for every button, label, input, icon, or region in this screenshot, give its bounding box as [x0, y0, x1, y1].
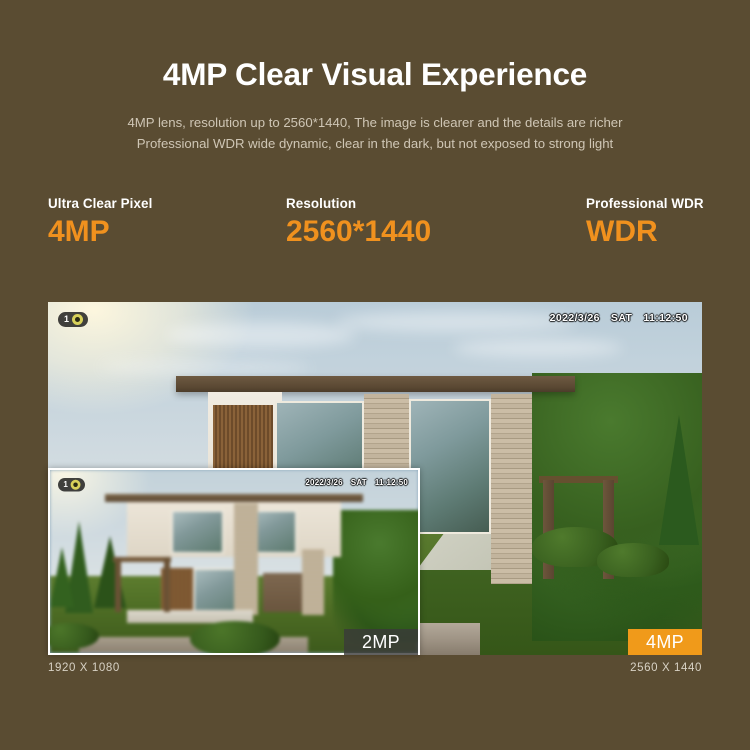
subtitle-block: 4MP lens, resolution up to 2560*1440, Th… — [0, 112, 750, 155]
inset-scene — [50, 470, 418, 653]
header-section: 4MP Clear Visual Experience 4MP lens, re… — [0, 0, 750, 154]
house-structure — [113, 494, 356, 626]
resolution-tag-2mp: 2MP — [344, 629, 418, 655]
pergola-post — [115, 557, 121, 612]
stat-value: WDR — [586, 215, 704, 249]
pergola-post — [164, 557, 170, 612]
stat-ultra-clear-pixel: Ultra Clear Pixel 4MP — [48, 196, 152, 249]
camera-comparison-viewer: 1 2022/3/26SAT11:12:50 — [48, 302, 702, 655]
stat-value: 4MP — [48, 215, 152, 249]
roof-slab — [105, 494, 362, 502]
cloud — [336, 312, 576, 332]
channel-number: 1 — [64, 315, 69, 324]
osd-timestamp-main: 2022/3/26SAT11:12:50 — [550, 312, 688, 324]
osd-time: 11:12:50 — [375, 478, 408, 487]
resolution-caption-2mp: 1920 X 1080 — [48, 662, 120, 674]
osd-weekday: SAT — [351, 478, 367, 487]
conifer-tree — [659, 415, 699, 545]
stat-label: Resolution — [286, 196, 431, 211]
stats-row: Ultra Clear Pixel 4MP Resolution 2560*14… — [0, 186, 750, 271]
osd-weekday: SAT — [611, 312, 632, 324]
osd-timestamp-inset: 2022/3/26SAT11:12:50 — [305, 478, 408, 487]
subtitle-line-2: Professional WDR wide dynamic, clear in … — [0, 133, 750, 154]
cloud — [100, 359, 310, 375]
channel-number: 1 — [63, 481, 68, 489]
window-glass — [409, 399, 491, 535]
inset-camera-view-2mp[interactable]: 1 2022/3/26SAT11:12:50 — [48, 468, 420, 655]
osd-time: 11:12:50 — [643, 312, 688, 324]
page-title: 4MP Clear Visual Experience — [0, 57, 750, 92]
osd-date: 2022/3/26 — [550, 312, 600, 324]
stat-label: Ultra Clear Pixel — [48, 196, 152, 211]
stat-value: 2560*1440 — [286, 215, 431, 249]
shrub — [597, 543, 669, 577]
cloud — [166, 322, 356, 348]
stone-column — [234, 503, 258, 615]
shrub — [190, 621, 280, 655]
osd-date: 2022/3/26 — [305, 478, 342, 487]
osd-channel-badge-inset: 1 — [58, 478, 85, 492]
lower-wall-panel — [263, 573, 302, 613]
stat-label: Professional WDR — [586, 196, 704, 211]
roof-slab — [176, 376, 575, 392]
eye-icon — [71, 480, 81, 490]
cloud — [453, 339, 623, 357]
stat-professional-wdr: Professional WDR WDR — [586, 196, 704, 249]
subtitle-line-1: 4MP lens, resolution up to 2560*1440, Th… — [0, 112, 750, 133]
conifer-tree — [50, 547, 74, 607]
eye-icon — [72, 314, 83, 325]
resolution-tag-4mp: 4MP — [628, 629, 702, 655]
window-glass — [171, 510, 224, 555]
stat-resolution: Resolution 2560*1440 — [286, 196, 431, 249]
stone-column — [491, 394, 532, 584]
pergola-beam — [113, 557, 171, 562]
resolution-caption-4mp: 2560 X 1440 — [630, 662, 702, 674]
stone-column — [302, 549, 324, 615]
osd-channel-badge-main: 1 — [58, 312, 88, 327]
